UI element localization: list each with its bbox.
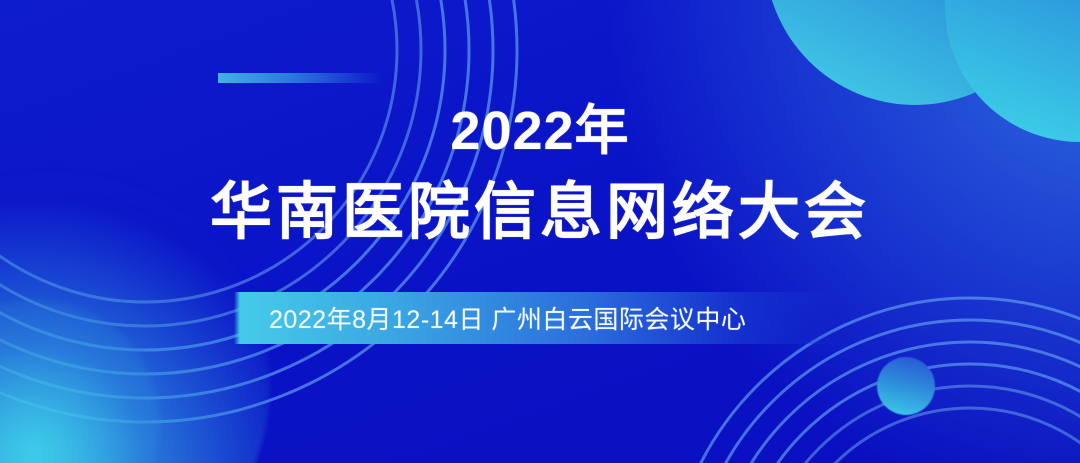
- conference-poster: 2022年 华南医院信息网络大会 2022年8月12-14日 广州白云国际会议中…: [0, 0, 1080, 463]
- poster-year: 2022年: [0, 104, 1080, 158]
- poster-headline: 华南医院信息网络大会: [0, 182, 1080, 244]
- poster-content: 2022年 华南医院信息网络大会 2022年8月12-14日 广州白云国际会议中…: [0, 0, 1080, 463]
- subtitle-text: 2022年8月12-14日 广州白云国际会议中心: [240, 300, 746, 336]
- subtitle-banner: 2022年8月12-14日 广州白云国际会议中心: [240, 292, 840, 344]
